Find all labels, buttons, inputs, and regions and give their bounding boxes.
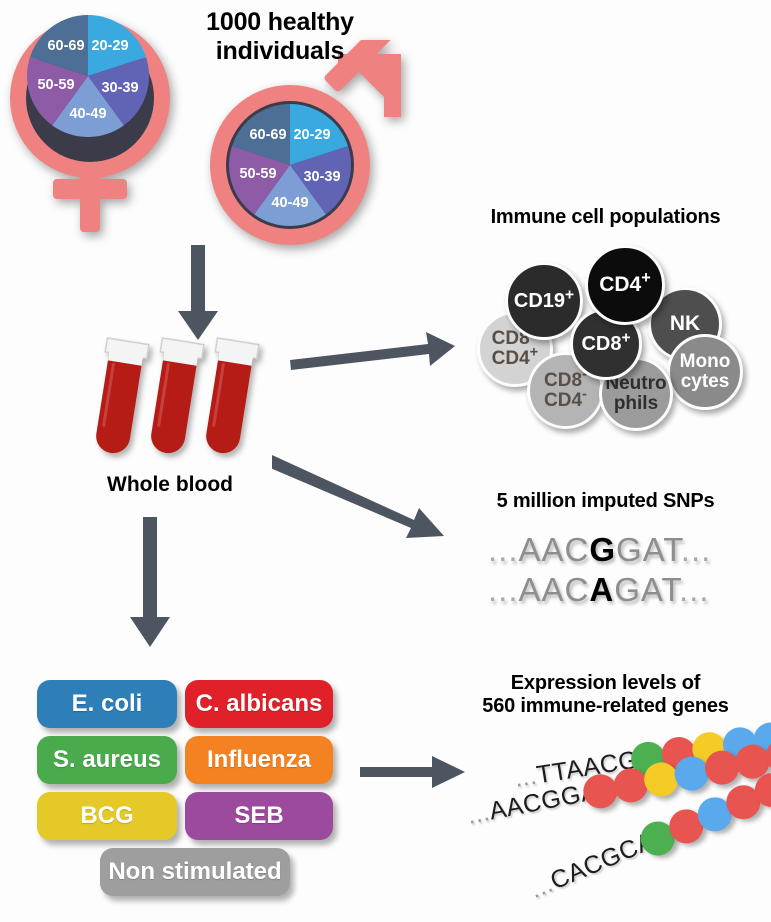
expression-bead (721, 725, 760, 764)
cohort-title-line1: 1000 healthy (150, 8, 410, 37)
arrow-blood-to-snps (272, 452, 452, 542)
expression-bead (641, 759, 681, 799)
immune-cell-cd4: CD4+ (585, 245, 665, 325)
expression-bead (629, 739, 668, 778)
immune-cell-label: CD19+ (514, 291, 574, 312)
expression-bead (580, 771, 620, 811)
pie-label-30-39: 30-39 (303, 169, 340, 185)
stimulus-bcg[interactable]: BCG (37, 792, 177, 840)
immune-cell-label: Neutrophils (605, 374, 666, 414)
expression-bead (659, 735, 698, 774)
arrow-stimuli-to-expression (360, 756, 465, 788)
expression-strand-2: ...AACGGAT (465, 743, 766, 836)
expression-bead (664, 804, 709, 849)
pie-label-40-49: 40-49 (69, 106, 106, 122)
stimulus-influenza[interactable]: Influenza (185, 736, 333, 784)
expression-title: Expression levels of 560 immune-related … (440, 672, 771, 718)
expression-bead (751, 720, 771, 759)
stimulus-label: E. coli (72, 690, 143, 718)
stimulus-label: BCG (80, 802, 133, 830)
expression-bead (763, 736, 771, 776)
sequence-dots: ... (526, 870, 558, 905)
immune-cell-label: CD4+ (599, 274, 651, 296)
stimulus-label: Influenza (207, 746, 311, 774)
stimulus-seb[interactable]: SEB (185, 792, 333, 840)
stimulus-label: S. aureus (53, 746, 161, 774)
snp-suffix-dots: ... (681, 531, 712, 568)
expression-strand-3: ...CACGCAA (525, 759, 771, 909)
male-age-pie-chart: 20-29 30-39 40-49 50-59 60-69 (228, 103, 352, 227)
expression-strand-1: ...TTAACGG (512, 716, 771, 798)
expression-bead (692, 792, 737, 837)
whole-blood-label: Whole blood (60, 473, 280, 497)
whole-blood-tubes (95, 335, 285, 475)
snp-sequence-row-1: ...AACGGAT... (488, 531, 711, 569)
immune-cell-label: Monocytes (680, 352, 731, 392)
pie-label-20-29: 20-29 (91, 38, 128, 54)
expression-strand-sequence: ...AACGGAT (465, 774, 614, 830)
pie-label-20-29: 20-29 (293, 127, 330, 143)
pie-label-60-69: 60-69 (249, 127, 286, 143)
stimulus-label: Non stimulated (108, 858, 281, 886)
snp-prefix-dots: ... (488, 571, 519, 608)
arrow-blood-to-immune-cells (290, 330, 455, 375)
immune-cell-cd19: CD19+ (505, 262, 583, 340)
expression-bead (733, 742, 771, 782)
expression-bead (672, 754, 712, 794)
snps-title: 5 million imputed SNPs (440, 490, 771, 513)
snp-prefix-dots: ... (488, 531, 519, 568)
sequence-dots: ... (512, 762, 538, 793)
expression-bead (690, 730, 729, 769)
snp-suffix-dots: ... (679, 571, 710, 608)
expression-strand-sequence: ...CACGCAA (526, 820, 675, 905)
pie-label-50-59: 50-59 (239, 166, 276, 182)
immune-cells-title: Immune cell populations (440, 206, 771, 229)
expression-bead (750, 768, 771, 813)
snp-sequence-row-2: ...AACAGAT... (488, 571, 709, 609)
expression-strand-sequence: ...TTAACGG (512, 743, 660, 794)
pie-label-30-39: 30-39 (101, 80, 138, 96)
expression-bead (611, 765, 651, 805)
female-age-pie-chart: 20-29 30-39 40-49 50-59 60-69 (26, 14, 150, 138)
expression-title-line1: Expression levels of (440, 672, 771, 695)
page-title-cohort: 1000 healthy individuals (150, 8, 410, 65)
stimulus-c-albicans[interactable]: C. albicans (185, 680, 333, 728)
arrow-cohort-to-blood (178, 245, 218, 340)
stimulus-e-coli[interactable]: E. coli (37, 680, 177, 728)
stimulus-label: C. albicans (196, 690, 323, 718)
expression-bead (702, 748, 742, 788)
immune-cell-monocytes: Monocytes (667, 334, 743, 410)
snp-variant-base: A (589, 571, 614, 608)
stimulus-s-aureus[interactable]: S. aureus (37, 736, 177, 784)
pie-label-40-49: 40-49 (271, 195, 308, 211)
cohort-title-line2: individuals (150, 37, 410, 66)
pie-label-50-59: 50-59 (37, 77, 74, 93)
snp-right-bases: GAT (614, 571, 679, 608)
arrow-blood-to-stimuli (130, 517, 170, 647)
sequence-dots: ... (465, 798, 492, 830)
snp-left-bases: AAC (519, 571, 590, 608)
expression-bead (635, 816, 680, 861)
stimulus-non-stimulated[interactable]: Non stimulated (100, 848, 290, 896)
immune-cell-label: CD8+ (581, 334, 630, 355)
snp-left-bases: AAC (519, 531, 590, 568)
expression-title-line2: 560 immune-related genes (440, 695, 771, 718)
immune-cell-label: CD8-CD4- (544, 371, 587, 411)
pie-label-60-69: 60-69 (47, 38, 84, 54)
expression-bead (721, 780, 766, 825)
snp-right-bases: GAT (616, 531, 681, 568)
snp-variant-base: G (589, 531, 616, 568)
immune-cell-label: NK (670, 313, 700, 335)
stimulus-label: SEB (234, 802, 283, 830)
